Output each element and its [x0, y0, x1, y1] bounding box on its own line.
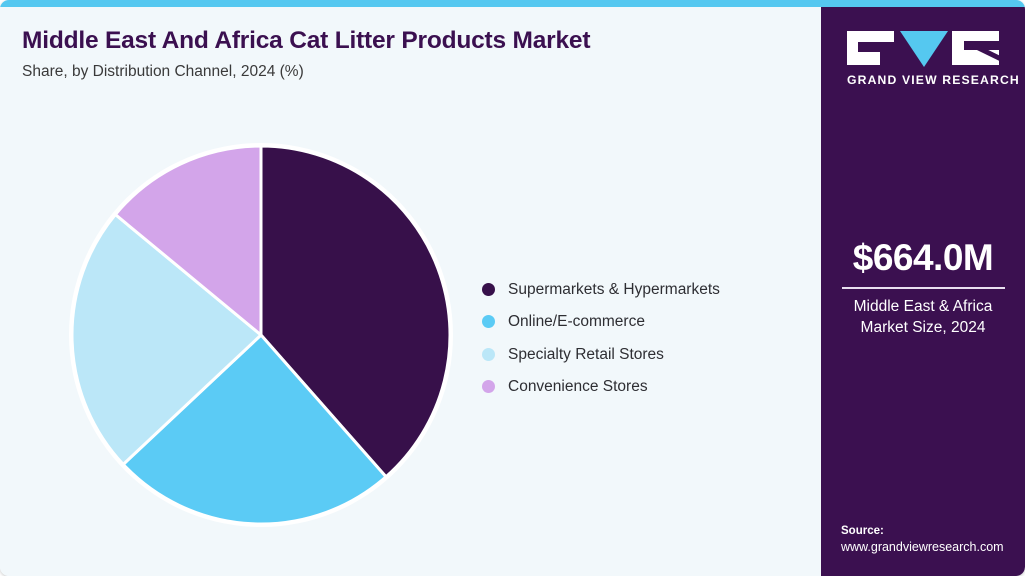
- source-label: Source:: [841, 524, 1025, 540]
- page-title: Middle East And Africa Cat Litter Produc…: [22, 27, 792, 55]
- stat-caption-line-1: Middle East & Africa: [821, 297, 1025, 318]
- logo-letter-g-icon: [847, 31, 894, 65]
- legend-item-specialty-retail-stores[interactable]: Specialty Retail Stores: [482, 338, 812, 371]
- brand-panel: GRAND VIEW RESEARCH $664.0M Middle East …: [821, 7, 1025, 576]
- top-accent-bar: [0, 0, 1025, 7]
- legend-item-online-ecommerce[interactable]: Online/E-commerce: [482, 306, 812, 339]
- legend-item-convenience-stores[interactable]: Convenience Stores: [482, 371, 812, 404]
- market-size-stat: $664.0M Middle East & Africa Market Size…: [821, 239, 1025, 339]
- legend-item-label: Supermarkets & Hypermarkets: [508, 282, 720, 298]
- stat-caption: Middle East & Africa Market Size, 2024: [821, 297, 1025, 339]
- legend-item-label: Specialty Retail Stores: [508, 347, 664, 363]
- legend-swatch-icon: [482, 315, 495, 328]
- pie-chart-svg: [65, 132, 465, 532]
- logo-mark: [847, 28, 999, 68]
- chart-area: Middle East And Africa Cat Litter Produc…: [0, 7, 821, 576]
- stat-divider: [842, 287, 1005, 289]
- title-block: Middle East And Africa Cat Litter Produc…: [22, 27, 792, 82]
- pie-slices: [69, 143, 453, 527]
- legend-item-supermarkets-hypermarkets[interactable]: Supermarkets & Hypermarkets: [482, 273, 812, 306]
- legend-swatch-icon: [482, 283, 495, 296]
- page-subtitle: Share, by Distribution Channel, 2024 (%): [22, 63, 792, 82]
- source-url[interactable]: www.grandviewresearch.com: [841, 539, 1025, 556]
- logo-wordmark: GRAND VIEW RESEARCH: [847, 73, 999, 87]
- legend-item-label: Convenience Stores: [508, 379, 648, 395]
- grand-view-research-logo: GRAND VIEW RESEARCH: [847, 28, 999, 87]
- legend-item-label: Online/E-commerce: [508, 314, 645, 330]
- logo-letter-r-icon: [952, 31, 999, 65]
- pie-chart: [65, 132, 465, 532]
- logo-letter-v-triangle-icon: [900, 31, 948, 67]
- logo-g-notch-2: [880, 42, 894, 65]
- chart-legend: Supermarkets & Hypermarkets Online/E-com…: [482, 273, 812, 403]
- legend-swatch-icon: [482, 380, 495, 393]
- stat-caption-line-2: Market Size, 2024: [821, 318, 1025, 339]
- chart-card: Middle East And Africa Cat Litter Produc…: [0, 0, 1025, 576]
- stat-value: $664.0M: [821, 239, 1025, 278]
- legend-swatch-icon: [482, 348, 495, 361]
- source-block: Source: www.grandviewresearch.com: [841, 524, 1025, 556]
